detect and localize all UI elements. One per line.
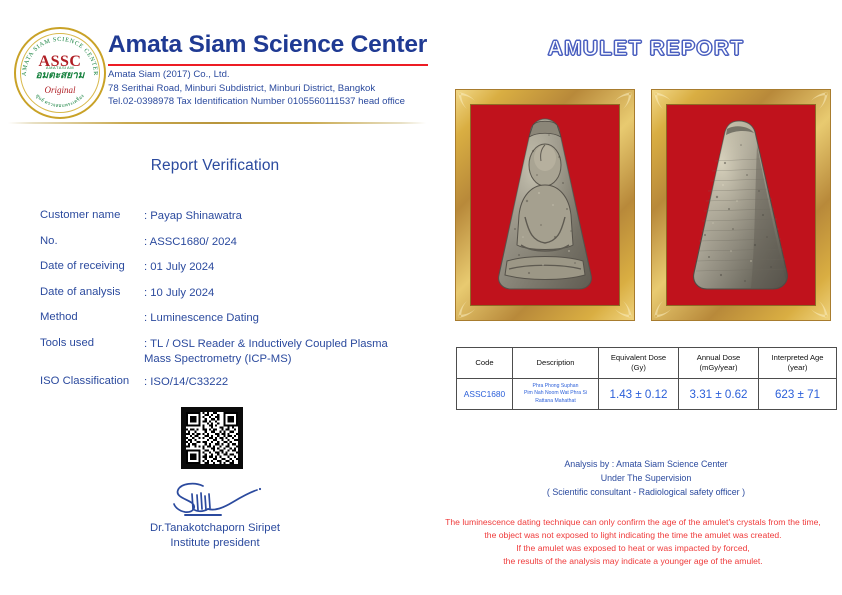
report-field-list: Customer name : Payap Shinawatra No. : A… xyxy=(40,209,430,400)
handwritten-signature xyxy=(145,478,285,520)
company-name-heading: Amata Siam Science Center xyxy=(108,31,427,59)
disclaimer-line-2: the object was not exposed to light indi… xyxy=(424,529,842,542)
amulet-front-photo xyxy=(455,89,635,321)
column-header-equivalent-dose: Equivalent Dose (Gy) xyxy=(599,348,679,379)
field-label: Date of receiving xyxy=(40,260,125,272)
column-header-description: Description xyxy=(513,348,599,379)
field-value: : Payap Shinawatra xyxy=(144,209,242,224)
column-header-code: Code xyxy=(457,348,513,379)
report-verification-heading: Report Verification xyxy=(0,157,430,175)
field-value: : Luminescence Dating xyxy=(144,311,259,326)
company-address: Amata Siam (2017) Co., Ltd. 78 Serithai … xyxy=(108,68,405,109)
amulet-photo-gallery xyxy=(455,89,837,321)
address-line-3: Tel.02-0398978 Tax Identification Number… xyxy=(108,95,405,109)
cell-description: Phra Phong Suphan Pim Nah Noom Wat Phra … xyxy=(513,379,599,410)
signer-role: Institute president xyxy=(0,537,430,549)
analysis-attribution: Analysis by : Amata Siam Science Center … xyxy=(450,458,842,499)
field-value: : ISO/14/C33222 xyxy=(144,375,228,390)
disclaimer-line-1: The luminescence dating technique can on… xyxy=(424,516,842,529)
field-label: No. xyxy=(40,235,58,247)
disclaimer-notice: The luminescence dating technique can on… xyxy=(424,516,842,568)
table-header-row: Code Description Equivalent Dose (Gy) An… xyxy=(457,348,837,379)
field-iso-classification: ISO Classification : ISO/14/C33222 xyxy=(40,375,430,401)
amulet-front-image xyxy=(471,105,619,305)
field-date-of-analysis: Date of analysis : 10 July 2024 xyxy=(40,286,430,312)
analysis-results-table: Code Description Equivalent Dose (Gy) An… xyxy=(456,347,837,410)
field-label: ISO Classification xyxy=(40,375,129,387)
seal-thai-brand: อมตะสยาม xyxy=(24,71,96,82)
analysis-line-3: ( Scientific consultant - Radiological s… xyxy=(450,486,842,500)
company-seal-logo: AMATA SIAM SCIENCE CENTER ศูนย์ ตรวจสอบพ… xyxy=(14,27,106,119)
field-label: Customer name xyxy=(40,209,120,221)
column-header-annual-dose: Annual Dose (mGy/year) xyxy=(679,348,759,379)
field-report-no: No. : ASSC1680/ 2024 xyxy=(40,235,430,261)
amulet-report-heading: AMULET REPORT xyxy=(450,37,842,61)
cell-equivalent-dose: 1.43 ± 0.12 xyxy=(599,379,679,410)
disclaimer-line-3: If the amulet was exposed to heat or was… xyxy=(424,542,842,555)
amulet-back-photo xyxy=(651,89,831,321)
analysis-line-2: Under The Supervision xyxy=(450,472,842,486)
column-header-interpreted-age: Interpreted Age (year) xyxy=(759,348,837,379)
cell-interpreted-age: 623 ± 71 xyxy=(759,379,837,410)
header-divider-rule xyxy=(8,122,426,124)
field-label: Method xyxy=(40,311,78,323)
field-label: Tools used xyxy=(40,337,94,349)
field-value: : 01 July 2024 xyxy=(144,260,214,275)
company-title-underline xyxy=(108,64,428,66)
analysis-line-1: Analysis by : Amata Siam Science Center xyxy=(450,458,842,472)
table-row: ASSC1680 Phra Phong Suphan Pim Nah Noom … xyxy=(457,379,837,410)
seal-original-label: Original xyxy=(16,85,104,95)
qr-code-image xyxy=(186,412,238,464)
amulet-back-image xyxy=(667,105,815,305)
field-value: : TL / OSL Reader & Inductively Coupled … xyxy=(144,337,388,368)
field-value: : ASSC1680/ 2024 xyxy=(144,235,237,250)
address-line-2: 78 Serithai Road, Minburi Subdistrict, M… xyxy=(108,82,405,96)
field-label: Date of analysis xyxy=(40,286,120,298)
signer-name: Dr.Tanakotchaporn Siripet xyxy=(0,522,430,534)
cell-code: ASSC1680 xyxy=(457,379,513,410)
field-customer-name: Customer name : Payap Shinawatra xyxy=(40,209,430,235)
disclaimer-line-4: the results of the analysis may indicate… xyxy=(424,555,842,568)
field-tools-used: Tools used : TL / OSL Reader & Inductive… xyxy=(40,337,430,375)
field-value: : 10 July 2024 xyxy=(144,286,214,301)
amulet-report-page: AMATA SIAM SCIENCE CENTER ศูนย์ ตรวจสอบพ… xyxy=(0,0,842,595)
svg-text:ศูนย์ ตรวจสอบพระเครื่อง: ศูนย์ ตรวจสอบพระเครื่อง xyxy=(34,93,85,108)
field-method: Method : Luminescence Dating xyxy=(40,311,430,337)
field-date-of-receiving: Date of receiving : 01 July 2024 xyxy=(40,260,430,286)
verification-qr-code[interactable] xyxy=(181,407,243,469)
cell-annual-dose: 3.31 ± 0.62 xyxy=(679,379,759,410)
address-line-1: Amata Siam (2017) Co., Ltd. xyxy=(108,68,405,82)
signature-block: Dr.Tanakotchaporn Siripet Institute pres… xyxy=(0,478,430,549)
